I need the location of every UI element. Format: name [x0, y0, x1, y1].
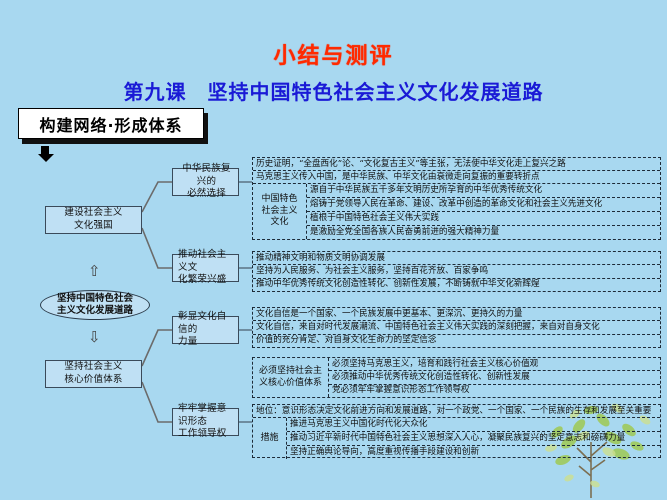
sub-rows: 推动精神文明和物质文明协调发展 坚持为人民服务、为社会主义服务，坚持百花齐放、百… [253, 252, 660, 291]
cell-text: 马克思主义传入中国，是中华民族、中华文化由衰微走向复振的重要转折点 [253, 171, 660, 183]
node-top: 建设社会主义 文化强国 [45, 206, 142, 234]
table-row: 推动精神文明和物质文明协调发展 坚持为人民服务、为社会主义服务，坚持百花齐放、百… [253, 252, 660, 291]
cell-text: 地位：意识形态决定文化前进方向和发展道路，对一个政党、一个国家、一个民族的生存和… [253, 405, 660, 417]
arrow-down-icon-bottom: ⇩ [88, 330, 101, 345]
cell-text: 文化自信，来自对时代发展潮流、中国特色社会主义伟大实践的深刻把握，来自对自身文化 [253, 321, 660, 334]
node-center: 坚持中国特色社会 主义文化发展道路 [40, 290, 150, 320]
cell-text: 必须推动中华优秀传统文化创造性转化、创新性发展 [329, 371, 660, 384]
down-arrow-icon [38, 146, 60, 162]
node-bottom-label: 坚持社会主义 核心价值体系 [64, 361, 122, 387]
branch-node-4-label: 牢牢掌握意识形态 工作领导权 [178, 403, 235, 441]
content-block-1: 历史证明，“全盘西化”论、“文化复古主义”等主张，无法使中华文化走上复兴之路 马… [252, 157, 661, 240]
cell-text: 植根于中国特色社会主义伟大实践 [307, 212, 660, 226]
content-block-5: 地位：意识形态决定文化前进方向和发展道路，对一个政党、一个国家、一个民族的生存和… [252, 404, 661, 458]
cell-text: 熔铸于党领导人民在革命、建设、改革中创造的革命文化和社会主义先进文化 [307, 198, 660, 212]
sub-rows: 推进马克思主义中国化时代化大众化 推动习近平新时代中国特色社会主义思想深入人心，… [287, 418, 660, 459]
table-row: 中国特色 社会主义 文化 源自于中华民族五千多年文明历史所孕育的中华优秀传统文化… [253, 184, 660, 239]
branch-node-4: 牢牢掌握意识形态 工作领导权 [172, 408, 239, 436]
cell-text: 文化自信是一个国家、一个民族发展中更基本、更深沉、更持久的力量 [253, 308, 660, 321]
branch-node-1-label: 中华民族复兴的 必然选择 [178, 163, 235, 201]
banner-label: 构建网络·形成体系 [18, 108, 204, 139]
arrow-up-icon-top: ⇧ [88, 264, 101, 279]
content-block-4: 必须坚持社会主 义核心价值体系 必须坚持马克思主义，培育和践行社会主义核心价值观… [252, 357, 661, 398]
cell-text: 推动中华优秀传统文化创造性转化、创新性发展，不断铸就中华文化新辉煌 [253, 279, 660, 291]
cell-text: 推动精神文明和物质文明协调发展 [253, 252, 660, 265]
slide-canvas: 小结与测评 第九课 坚持中国特色社会主义文化发展道路 构建网络·形成体系 建设社… [0, 0, 667, 500]
table-row: 历史证明，“全盘西化”论、“文化复古主义”等主张，无法使中华文化走上复兴之路 [253, 158, 660, 171]
row-label: 必须坚持社会主 义核心价值体系 [253, 358, 329, 397]
node-bottom: 坚持社会主义 核心价值体系 [45, 360, 142, 388]
cell-text: 推动习近平新时代中国特色社会主义思想深入人心，凝聚民族复兴的坚定意志和磅礴力量 [287, 432, 660, 446]
cell-text: 历史证明，“全盘西化”论、“文化复古主义”等主张，无法使中华文化走上复兴之路 [253, 158, 660, 170]
table-row: 地位：意识形态决定文化前进方向和发展道路，对一个政党、一个国家、一个民族的生存和… [253, 405, 660, 418]
cell-text: 价值的充分肯定、对自身文化生命力的坚定信念 [253, 335, 660, 347]
branch-node-2: 推动社会主义文 化繁荣兴盛 [172, 254, 239, 282]
section-banner: 构建网络·形成体系 [18, 108, 208, 144]
sub-rows: 文化自信是一个国家、一个民族发展中更基本、更深沉、更持久的力量 文化自信，来自对… [253, 308, 660, 347]
cell-text: 必须坚持马克思主义，培育和践行社会主义核心价值观 [329, 358, 660, 371]
branch-node-3: 彰显文化自信的 力量 [172, 316, 239, 344]
page-title: 小结与测评 [0, 38, 667, 70]
branch-node-2-label: 推动社会主义文 化繁荣兴盛 [178, 249, 235, 287]
cell-text: 坚持为人民服务、为社会主义服务，坚持百花齐放、百家争鸣 [253, 265, 660, 278]
table-row: 必须坚持社会主 义核心价值体系 必须坚持马克思主义，培育和践行社会主义核心价值观… [253, 358, 660, 397]
cell-text: 源自于中华民族五千多年文明历史所孕育的中华优秀传统文化 [307, 184, 660, 198]
branch-node-1: 中华民族复兴的 必然选择 [172, 168, 239, 196]
cell-text: 是激励全党全国各族人民奋勇前进的强大精神力量 [307, 226, 660, 239]
node-top-label: 建设社会主义 文化强国 [64, 207, 122, 233]
row-label: 中国特色 社会主义 文化 [253, 184, 307, 239]
page-subtitle: 第九课 坚持中国特色社会主义文化发展道路 [0, 76, 667, 105]
sub-rows: 源自于中华民族五千多年文明历史所孕育的中华优秀传统文化 熔铸于党领导人民在革命、… [307, 184, 660, 239]
row-label: 措施 [253, 418, 287, 459]
sub-rows: 必须坚持马克思主义，培育和践行社会主义核心价值观 必须推动中华优秀传统文化创造性… [329, 358, 660, 397]
table-row: 措施 推进马克思主义中国化时代化大众化 推动习近平新时代中国特色社会主义思想深入… [253, 418, 660, 459]
node-center-label: 坚持中国特色社会 主义文化发展道路 [57, 293, 133, 318]
cell-text: 推进马克思主义中国化时代化大众化 [287, 418, 660, 432]
table-row: 马克思主义传入中国，是中华民族、中华文化由衰微走向复振的重要转折点 [253, 171, 660, 184]
branch-node-3-label: 彰显文化自信的 力量 [178, 311, 235, 349]
table-row: 文化自信是一个国家、一个民族发展中更基本、更深沉、更持久的力量 文化自信，来自对… [253, 308, 660, 347]
content-block-2: 推动精神文明和物质文明协调发展 坚持为人民服务、为社会主义服务，坚持百花齐放、百… [252, 251, 661, 292]
content-block-3: 文化自信是一个国家、一个民族发展中更基本、更深沉、更持久的力量 文化自信，来自对… [252, 307, 661, 348]
cell-text: 坚持正确舆论导向，高度重视传播手段建设和创新 [287, 446, 660, 459]
cell-text: 党必须牢牢掌握意识形态工作领导权 [329, 385, 660, 397]
